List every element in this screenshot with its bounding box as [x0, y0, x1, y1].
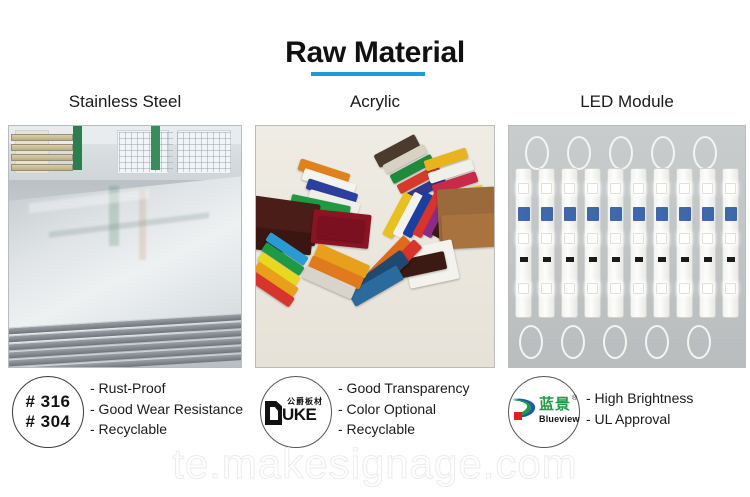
image-panel-led-module [508, 125, 746, 368]
steel-grade-304: # 304 [25, 412, 70, 432]
feature-list-stainless-steel: - Rust-Proof - Good Wear Resistance - Re… [90, 378, 252, 440]
duke-logo-badge: 公爵板材 UKE [260, 376, 332, 448]
feature-item: - Good Wear Resistance [90, 399, 252, 420]
title-underline-rule [311, 72, 425, 76]
feature-item: - Good Transparency [338, 378, 500, 399]
steel-grade-badge: # 316 # 304 [12, 376, 84, 448]
feature-block-stainless-steel: # 316 # 304 - Rust-Proof - Good Wear Res… [4, 376, 252, 448]
blueview-brand-cn: 蓝景 [539, 396, 571, 413]
feature-block-acrylic: 公爵板材 UKE - Good Transparency - Color Opt… [252, 376, 500, 448]
feature-item: - Rust-Proof [90, 378, 252, 399]
feature-item: - UL Approval [586, 409, 748, 430]
duke-brand-latin: UKE [282, 405, 316, 424]
column-heading-stainless-steel: Stainless Steel [8, 90, 242, 114]
blueview-logo: 蓝景 ® Blueview [511, 395, 577, 429]
column-heading-led-module: LED Module [508, 90, 746, 114]
acrylic-sheets-photo [256, 126, 494, 367]
duke-logo: 公爵板材 UKE [265, 397, 327, 427]
feature-item: - Recyclable [90, 419, 252, 440]
column-heading-acrylic: Acrylic [255, 90, 495, 114]
stainless-steel-photo [9, 126, 241, 367]
feature-item: - High Brightness [586, 388, 748, 409]
site-watermark: te.makesignage.com [0, 440, 750, 488]
led-modules-photo [509, 126, 745, 367]
feature-block-led-module: 蓝景 ® Blueview - High Brightness - UL App… [500, 376, 748, 448]
feature-list-led-module: - High Brightness - UL Approval [586, 388, 748, 429]
duke-d-mark-icon [265, 401, 282, 425]
feature-item: - Color Optional [338, 399, 500, 420]
image-panel-acrylic [255, 125, 495, 368]
image-panel-stainless-steel [8, 125, 242, 368]
registered-mark: ® [572, 395, 577, 402]
raw-material-infographic: Raw Material Stainless Steel Acrylic LED… [0, 0, 750, 497]
blueview-red-square-icon [514, 412, 522, 420]
steel-grade-316: # 316 [25, 392, 70, 412]
page-title: Raw Material [0, 36, 750, 70]
page-title-wrap: Raw Material [0, 36, 750, 70]
feature-item: - Recyclable [338, 419, 500, 440]
blueview-brand-latin: Blueview [539, 414, 580, 424]
blueview-logo-badge: 蓝景 ® Blueview [508, 376, 580, 448]
feature-list-acrylic: - Good Transparency - Color Optional - R… [338, 378, 500, 440]
